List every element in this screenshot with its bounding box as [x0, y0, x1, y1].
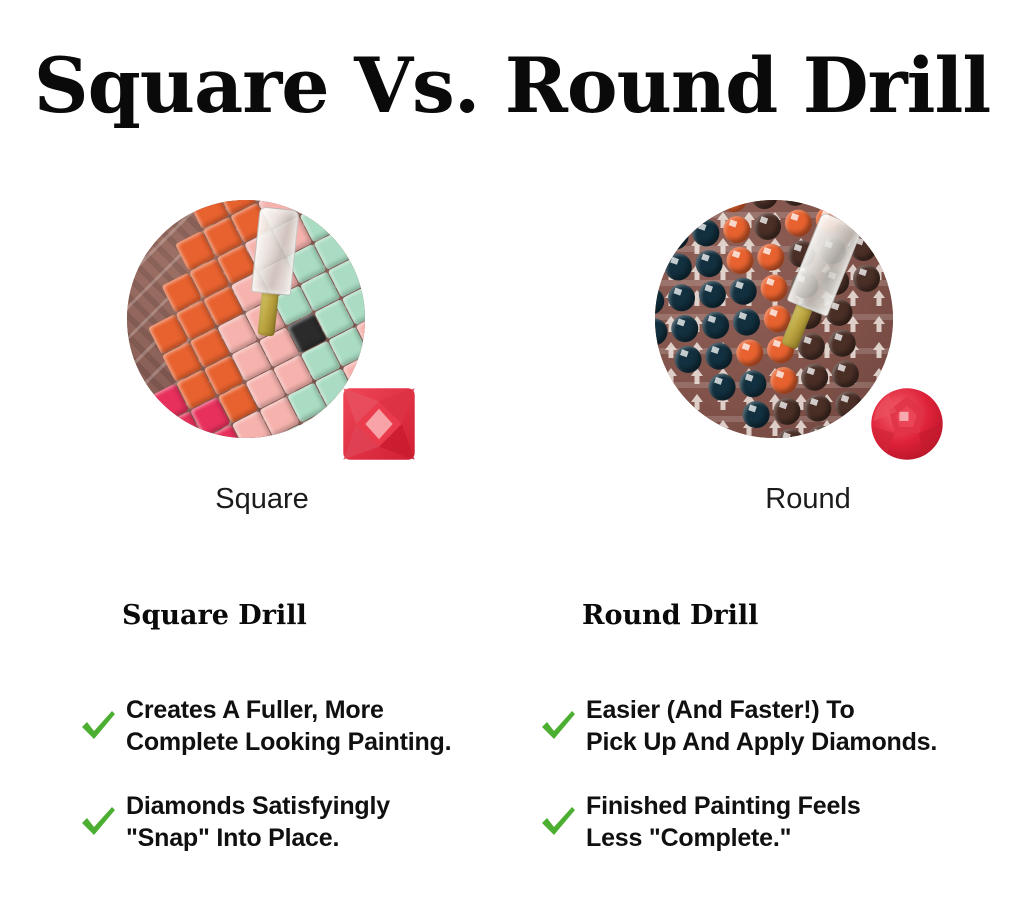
benefit-text: Diamonds Satisfyingly "Snap" Into Place.	[126, 790, 390, 854]
check-icon	[538, 706, 578, 746]
benefits-heading-square: Square Drill	[122, 600, 592, 631]
photo-comparison-row: Square	[0, 200, 1024, 530]
page-title: Square Vs. Round Drill	[0, 48, 1024, 124]
benefits-section: Square Drill Creates A Fuller, More Comp…	[0, 600, 1024, 900]
pen-tip	[257, 293, 278, 337]
photo-stack-square	[127, 200, 417, 470]
benefit-item: Finished Painting Feels Less "Complete."	[582, 789, 1024, 855]
square-drill-photo	[127, 200, 365, 438]
benefits-column-round: Round Drill Easier (And Faster!) To Pick…	[582, 600, 1024, 885]
round-gem-sample	[869, 386, 945, 462]
benefit-item: Easier (And Faster!) To Pick Up And Appl…	[582, 693, 1024, 759]
benefit-item: Diamonds Satisfyingly "Snap" Into Place.	[122, 789, 592, 855]
check-icon	[78, 802, 118, 842]
photo-caption-round: Round	[608, 483, 1008, 516]
benefit-text: Finished Painting Feels Less "Complete."	[586, 790, 861, 854]
benefit-text: Easier (And Faster!) To Pick Up And Appl…	[586, 694, 937, 758]
round-drill-photo	[655, 200, 893, 438]
photo-column-round: Round	[600, 200, 1000, 530]
check-icon	[78, 706, 118, 746]
photo-stack-round	[655, 200, 945, 470]
check-icon	[538, 802, 578, 842]
benefits-column-square: Square Drill Creates A Fuller, More Comp…	[122, 600, 592, 885]
benefit-item: Creates A Fuller, More Complete Looking …	[122, 693, 592, 759]
square-bead-grid	[127, 200, 365, 438]
benefit-text: Creates A Fuller, More Complete Looking …	[126, 694, 451, 758]
pen-tip	[781, 305, 812, 350]
photo-column-square: Square	[72, 200, 472, 530]
photo-caption-square: Square	[62, 483, 462, 516]
benefits-heading-round: Round Drill	[582, 600, 1024, 631]
square-gem-sample	[341, 386, 417, 462]
